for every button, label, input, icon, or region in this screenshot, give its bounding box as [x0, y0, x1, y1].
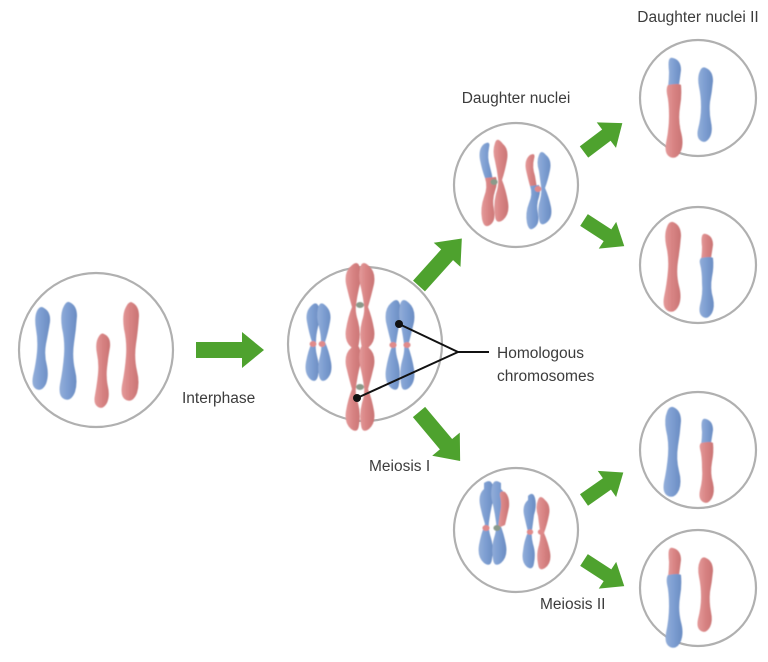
cell-daughter-nuclei-ii-4 — [640, 530, 756, 646]
meiosis-diagram: Interphase Meiosis I Meiosis II Daughter… — [0, 0, 768, 662]
label-homologous-chromosomes-line2: chromosomes — [497, 368, 595, 385]
chromatid-f3b-blue-tip — [701, 419, 713, 445]
label-daughter-nuclei-ii: Daughter nuclei II — [637, 9, 759, 26]
label-daughter-nuclei: Daughter nuclei — [462, 90, 571, 107]
leader-dot-upper — [395, 320, 403, 328]
label-homologous-chromosomes-line1: Homologous — [497, 345, 584, 362]
chromatid-f2b-red-tip — [701, 234, 713, 260]
cell-daughter-nuclei-ii-2 — [640, 207, 756, 323]
cell-daughter-nuclei-bottom — [454, 468, 578, 592]
arrow-daughter-bottom-to-final-4 — [575, 547, 633, 600]
arrow-daughter-top-to-final-1 — [574, 110, 632, 164]
cell-daughter-nuclei-ii-3 — [640, 392, 756, 508]
arrow-daughter-bottom-to-final-3 — [575, 459, 633, 513]
chromatid-f4a-red-tip — [668, 548, 681, 577]
leader-dot-lower — [353, 394, 361, 402]
arrow-daughter-top-to-final-2 — [575, 207, 633, 260]
label-interphase: Interphase — [182, 390, 255, 407]
label-meiosis-one: Meiosis I — [369, 458, 430, 475]
label-meiosis-two: Meiosis II — [540, 596, 605, 613]
chromatid-f1a-blue-tip — [668, 58, 681, 87]
cell-daughter-nuclei-top — [454, 123, 578, 247]
arrow-interphase-to-meiosis-one — [196, 332, 264, 368]
cell-daughter-nuclei-ii-1 — [640, 40, 756, 156]
